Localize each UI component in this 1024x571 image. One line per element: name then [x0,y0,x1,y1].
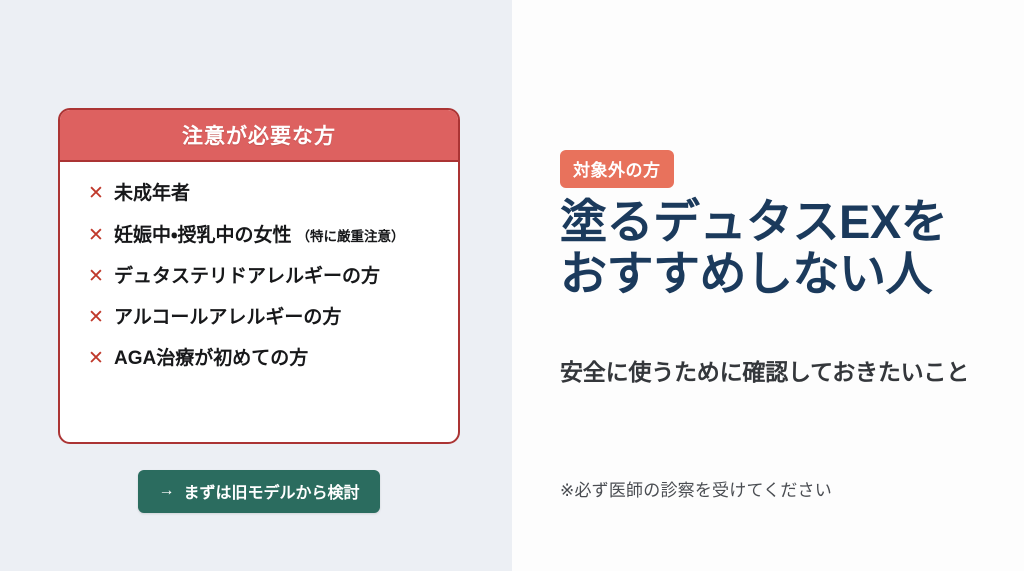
right-panel: 対象外の方 塗るデュタスEXを おすすめしない人 安全に使うために確認しておきた… [512,0,1024,571]
x-mark-icon: ✕ [88,226,114,245]
caution-card-header: 注意が必要な方 [60,110,458,162]
list-item: ✕ 未成年者 [88,184,458,205]
status-badge: 対象外の方 [560,150,674,188]
cta-container: → まずは旧モデルから検討 [58,470,460,513]
page-subtitle: 安全に使うために確認しておきたいこと [560,353,1010,387]
x-mark-icon: ✕ [88,308,114,327]
page-title-line-2: おすすめしない人 [560,248,1010,300]
list-item-note: （特に厳重注意） [296,225,404,245]
list-item: ✕ デュタステリドアレルギーの方 [88,267,458,288]
list-item: ✕ 妊娠中・授乳中の女性 （特に厳重注意） [88,225,458,247]
x-mark-icon: ✕ [88,267,114,286]
x-mark-icon: ✕ [88,184,114,203]
page-title: 塗るデュタスEXを おすすめしない人 [560,196,1010,300]
list-item-label: アルコールアレルギーの方 [114,308,341,329]
list-item: ✕ アルコールアレルギーの方 [88,308,458,329]
list-item: ✕ AGA治療が初めての方 [88,349,458,370]
slide-root: 注意が必要な方 ✕ 未成年者 ✕ 妊娠中・授乳中の女性 （特に厳重注意） ✕ デ… [0,0,1024,571]
caution-list: ✕ 未成年者 ✕ 妊娠中・授乳中の女性 （特に厳重注意） ✕ デュタステリドアレ… [60,162,458,369]
list-item-label: デュタステリドアレルギーの方 [114,267,380,288]
page-title-line-1: 塗るデュタスEXを [560,196,1010,248]
caution-card-title: 注意が必要な方 [182,120,336,150]
list-item-label: 未成年者 [114,184,190,205]
list-item-label: 妊娠中・授乳中の女性 [114,226,291,247]
arrow-right-icon: → [158,483,174,499]
consider-old-model-button[interactable]: → まずは旧モデルから検討 [138,470,379,513]
left-panel: 注意が必要な方 ✕ 未成年者 ✕ 妊娠中・授乳中の女性 （特に厳重注意） ✕ デ… [0,0,512,571]
consider-old-model-button-label: まずは旧モデルから検討 [183,479,359,503]
x-mark-icon: ✕ [88,349,114,368]
caution-card: 注意が必要な方 ✕ 未成年者 ✕ 妊娠中・授乳中の女性 （特に厳重注意） ✕ デ… [58,108,460,444]
list-item-label: AGA治療が初めての方 [114,349,308,370]
disclaimer-note: ※必ず医師の診察を受けてください [560,476,832,501]
